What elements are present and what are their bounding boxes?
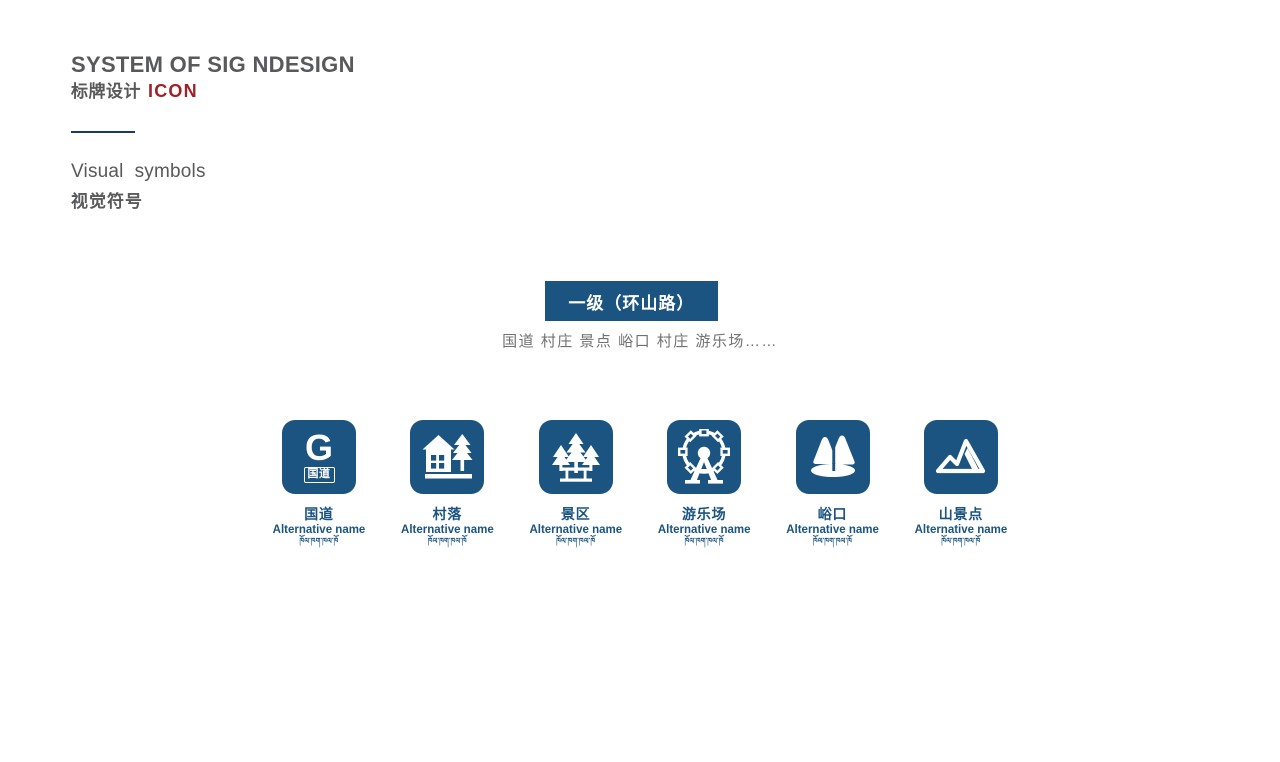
icon-label-en: Alternative name — [529, 524, 622, 537]
page-title-accent: ICON — [148, 80, 198, 103]
icon-label-en: Alternative name — [273, 524, 366, 537]
page-title-cn-row: 标牌设计 ICON — [71, 80, 591, 103]
icon-label-alt: ཁོལ་ཁག་ཁལ་ཁོ — [299, 537, 338, 546]
icon-label-cn: 村落 — [433, 507, 463, 522]
icon-gallery: G 国道 国道 Alternative name ཁོལ་ཁག་ཁལ་ཁོ — [255, 420, 1025, 545]
icon-label-en: Alternative name — [915, 524, 1008, 537]
mountain-scenic-spot-icon[interactable] — [924, 420, 998, 494]
icon-label-cn: 景区 — [561, 507, 591, 522]
icon-label-en: Alternative name — [786, 524, 879, 537]
page-header: SYSTEM OF SIG NDESIGN 标牌设计 ICON — [71, 52, 591, 103]
icon-item-amusement-park[interactable]: 游乐场 Alternative name ཁོལ་ཁག་ཁལ་ཁོ — [640, 420, 768, 545]
amusement-park-ferris-wheel-icon[interactable] — [667, 420, 741, 494]
icon-label-cn: 山景点 — [939, 507, 983, 522]
icon-label-alt: ཁོལ་ཁག་ཁལ་ཁོ — [941, 537, 980, 546]
icon-label-en: Alternative name — [658, 524, 751, 537]
page-title-en: SYSTEM OF SIG NDESIGN — [71, 52, 591, 78]
icon-label-alt: ཁོལ་ཁག་ཁལ་ཁོ — [428, 537, 467, 546]
category-badge[interactable]: 一级（环山路） — [545, 281, 718, 321]
icon-item-mountain-scenic-spot[interactable]: 山景点 Alternative name ཁོལ་ཁག་ཁལ་ཁོ — [897, 420, 1025, 545]
category-keywords: 国道 村庄 景点 峪口 村庄 游乐场…… — [0, 330, 1280, 351]
valley-mouth-twin-peaks-icon[interactable] — [796, 420, 870, 494]
scenic-area-pavilion-trees-icon[interactable] — [539, 420, 613, 494]
village-house-tree-icon[interactable] — [410, 420, 484, 494]
icon-label-cn: 峪口 — [818, 507, 848, 522]
icon-label-alt: ཁོལ་ཁག་ཁལ་ཁོ — [685, 537, 724, 546]
icon-label-cn: 国道 — [304, 507, 334, 522]
g-letter-glyph: G — [305, 431, 333, 464]
g-badge-label: 国道 — [304, 467, 335, 484]
subtitle-en: Visual symbols — [71, 161, 206, 183]
icon-label-cn: 游乐场 — [682, 507, 726, 522]
icon-item-scenic-area[interactable]: 景区 Alternative name ཁོལ་ཁག་ཁལ་ཁོ — [512, 420, 640, 545]
icon-label-en: Alternative name — [401, 524, 494, 537]
header-divider — [71, 131, 135, 133]
icon-label-alt: ཁོལ་ཁག་ཁལ་ཁོ — [556, 537, 595, 546]
icon-item-village[interactable]: 村落 Alternative name ཁོལ་ཁག་ཁལ་ཁོ — [383, 420, 511, 545]
icon-label-alt: ཁོལ་ཁག་ཁལ་ཁོ — [813, 537, 852, 546]
page-title-cn: 标牌设计 — [71, 81, 141, 102]
subtitle-cn: 视觉符号 — [71, 187, 143, 212]
national-road-g-icon[interactable]: G 国道 — [282, 420, 356, 494]
icon-item-valley-mouth[interactable]: 峪口 Alternative name ཁོལ་ཁག་ཁལ་ཁོ — [769, 420, 897, 545]
icon-item-national-road[interactable]: G 国道 国道 Alternative name ཁོལ་ཁག་ཁལ་ཁོ — [255, 420, 383, 545]
